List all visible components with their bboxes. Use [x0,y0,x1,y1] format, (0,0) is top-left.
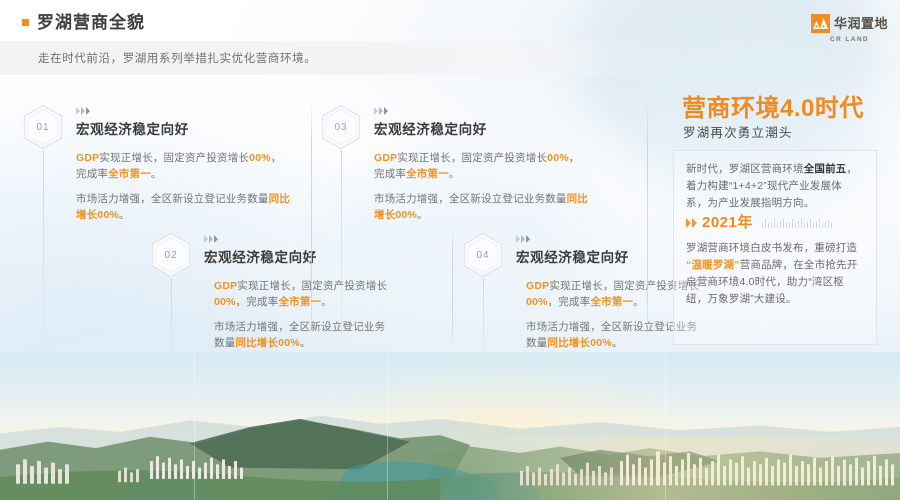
tick-ruler-icon [762,217,832,228]
card-number-01: 01 [22,104,64,150]
card-heading-01: 宏观经济稳定向好 [76,118,189,138]
logo-name-cn: 华润置地 [834,17,888,30]
card-stem-01 [43,150,44,378]
cr-land-mountain-icon [811,14,830,33]
card-number-04: 04 [462,232,504,278]
right-panel-subtitle: 罗湖再次勇立潮头 [683,127,793,140]
year-marker: 2021年 [686,215,832,230]
brand-logo: 华润置地 CR LAND [811,14,888,43]
card-paragraph-02-1: GDP实现正增长，固定资产投资增长00%，完成率全市第一。 [214,278,392,310]
page-header: 罗湖营商全貌 华润置地 CR LAND [0,0,900,40]
triple-chevron-right-icon [204,235,218,243]
card-number-03: 03 [320,104,362,150]
card-paragraph-03-2: 市场活力增强，全区新设立登记业务数量同比增长00%。 [374,191,588,223]
hexagon-badge-03: 03 [320,104,362,150]
page-title: 罗湖营商全貌 [37,14,145,31]
year-label: 2021年 [702,215,753,230]
subtitle-band: 走在时代前沿，罗湖用系列举措扎实优化营商环境。 [0,41,692,75]
card-body-03: GDP实现正增长，固定资产投资增长00%，完成率全市第一。 市场活力增强，全区新… [374,150,588,223]
triple-chevron-right-icon [516,235,530,243]
hexagon-badge-01: 01 [22,104,64,150]
triple-chevron-right-icon [76,107,90,115]
photo-seam-1 [194,352,195,500]
card-paragraph-01-1: GDP实现正增长，固定资产投资增长00%，完成率全市第一。 [76,150,290,182]
slide-root: 罗湖营商全貌 华润置地 CR LAND 走在时代前沿，罗湖用系列举措扎实优化营商… [0,0,900,500]
square-bullet-icon [22,19,29,26]
title-row: 罗湖营商全貌 [22,14,145,31]
triple-chevron-right-icon [374,107,388,115]
column-divider-1 [311,100,312,348]
photo-seam-2 [387,352,388,500]
photo-terrain [0,380,900,500]
right-panel-paragraph-2: 罗湖营商环境白皮书发布，重磅打造“温暖罗湖”营商品牌，在全市抢先开启营商环境4.… [686,240,860,308]
panorama-photo [0,352,900,500]
subtitle-text: 走在时代前沿，罗湖用系列举措扎实优化营商环境。 [38,50,316,66]
photo-seam-3 [665,352,666,500]
card-heading-02: 宏观经济稳定向好 [204,246,317,266]
card-body-02: GDP实现正增长，固定资产投资增长00%，完成率全市第一。 市场活力增强，全区新… [214,278,392,351]
column-divider-2 [452,228,453,350]
card-stem-03 [341,150,342,378]
card-paragraph-02-2: 市场活力增强，全区新设立登记业务数量同比增长00%。 [214,319,392,351]
card-heading-04: 宏观经济稳定向好 [516,246,629,266]
card-paragraph-03-1: GDP实现正增长，固定资产投资增长00%，完成率全市第一。 [374,150,588,182]
logo-row: 华润置地 [811,14,888,33]
card-number-02: 02 [150,232,192,278]
logo-name-en: CR LAND [830,36,869,43]
double-chevron-right-icon [686,218,697,228]
right-panel-title: 营商环境4.0时代 [682,97,864,121]
card-heading-03: 宏观经济稳定向好 [374,118,487,138]
hexagon-badge-04: 04 [462,232,504,278]
hexagon-badge-02: 02 [150,232,192,278]
card-body-01: GDP实现正增长，固定资产投资增长00%，完成率全市第一。 市场活力增强，全区新… [76,150,290,223]
card-paragraph-01-2: 市场活力增强，全区新设立登记业务数量同比增长00%。 [76,191,290,223]
right-panel-paragraph-1: 新时代，罗湖区营商环境全国前五，着力构建“1+4+2”现代产业发展体系，为产业发… [686,161,860,212]
column-divider-3 [647,100,648,348]
